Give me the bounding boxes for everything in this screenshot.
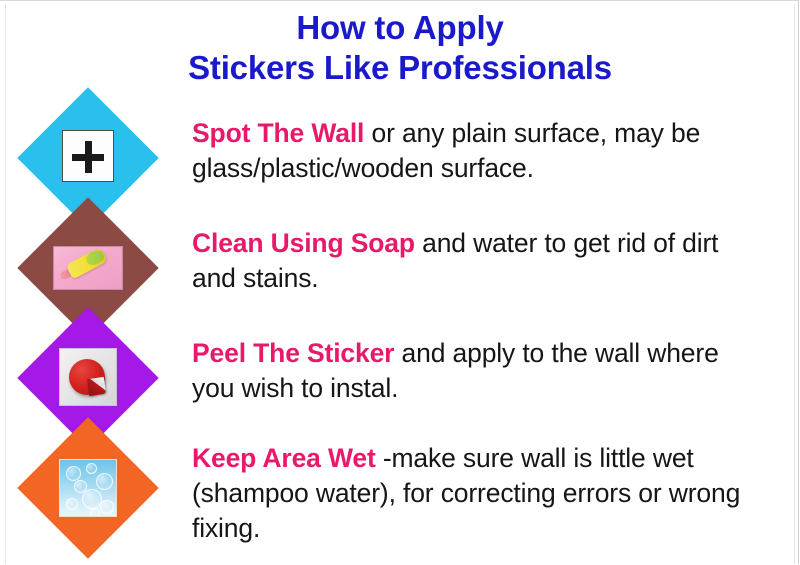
step-1-lead: Spot The Wall [192,118,364,148]
step-2-icon [38,218,138,318]
plus-vertical-bar [85,141,92,173]
step-item-4: Keep Area Wet -make sure wall is little … [0,435,800,545]
water-bubbles-icon [59,459,117,517]
bubble [66,466,81,481]
bubble [86,463,97,474]
step-item-3: Peel The Sticker and apply to the wall w… [0,325,800,435]
step-2-text: Clean Using Soap and water to get rid of… [192,226,762,296]
infographic-page: How to Apply Stickers Like Professionals… [0,0,800,565]
bubble [96,473,113,490]
step-2-lead: Clean Using Soap [192,228,415,258]
bubble [100,500,114,514]
plus-sign-icon [62,130,114,182]
step-item-1: Spot The Wall or any plain surface, may … [0,105,800,215]
step-3-lead: Peel The Sticker [192,338,394,368]
step-item-2: Clean Using Soap and water to get rid of… [0,215,800,325]
page-title-line-1: How to Apply [0,8,800,48]
page-title: How to Apply Stickers Like Professionals [0,8,800,88]
step-1-icon [38,108,138,208]
step-3-text: Peel The Sticker and apply to the wall w… [192,336,762,406]
page-title-line-2: Stickers Like Professionals [0,48,800,88]
bubble [82,489,102,509]
step-4-lead: Keep Area Wet [192,443,376,473]
step-3-icon [38,328,138,428]
step-4-text: Keep Area Wet -make sure wall is little … [192,441,762,546]
sticker-peel-corner [87,377,106,396]
bubble [66,498,78,510]
peeling-sticker-icon [59,348,117,406]
bubble [90,508,100,517]
step-1-text: Spot The Wall or any plain surface, may … [192,116,762,186]
sponge-icon [53,246,123,290]
step-4-icon [38,438,138,538]
